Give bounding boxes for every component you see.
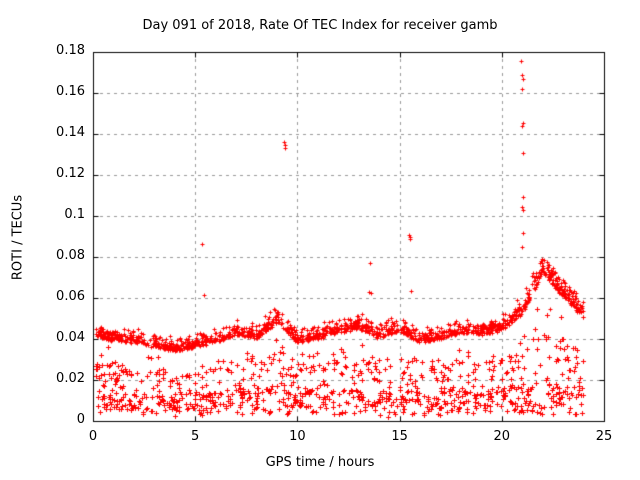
y-tick-label: 0.02	[15, 371, 85, 386]
y-tick-label: 0.04	[15, 330, 85, 345]
x-tick-label: 20	[472, 429, 532, 444]
x-tick-label: 10	[267, 429, 327, 444]
y-tick-label: 0.12	[15, 166, 85, 181]
y-tick-label: 0.16	[15, 84, 85, 99]
x-tick-label: 15	[370, 429, 430, 444]
rot-index-scatter-plot: Day 091 of 2018, Rate Of TEC Index for r…	[0, 0, 640, 480]
x-tick-label: 0	[63, 429, 123, 444]
y-tick-label: 0.1	[15, 207, 85, 222]
y-tick-label: 0	[15, 412, 85, 427]
x-axis-title: GPS time / hours	[0, 455, 640, 470]
x-tick-label: 25	[574, 429, 634, 444]
y-tick-label: 0.08	[15, 248, 85, 263]
plot-canvas	[0, 0, 640, 480]
y-axis-title: ROTI / TECUs	[11, 158, 26, 318]
y-tick-label: 0.14	[15, 125, 85, 140]
x-tick-label: 5	[165, 429, 225, 444]
y-tick-label: 0.18	[15, 43, 85, 58]
y-tick-label: 0.06	[15, 289, 85, 304]
